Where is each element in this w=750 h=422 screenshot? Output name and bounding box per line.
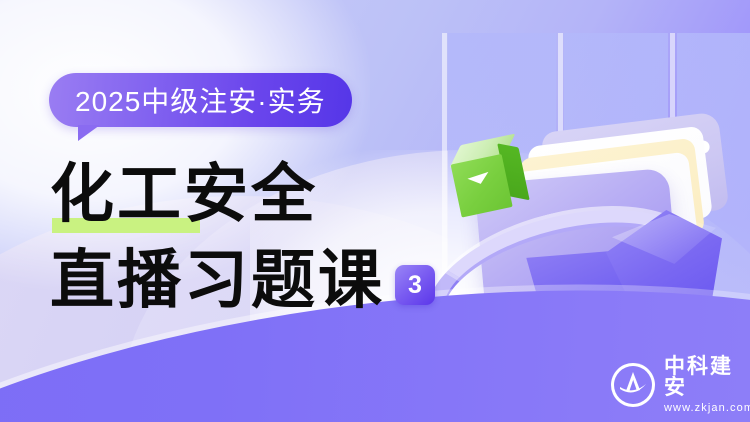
episode-number-badge: 3: [395, 265, 435, 305]
headline-line-2-row: 直播习题课 3: [50, 244, 470, 318]
course-banner: 2025中级注安·实务 化工安全 直播习题课 3 中科建安 www.zkjan.…: [0, 0, 750, 422]
course-category-label: 2025中级注安·实务: [49, 73, 352, 127]
headline-block: 化工安全 直播习题课 3: [50, 158, 470, 318]
pill-tail-pointer: [78, 125, 100, 141]
course-category-pill: 2025中级注安·实务: [49, 73, 352, 127]
brand-name: 中科建安: [664, 356, 750, 398]
headline-line-1: 化工安全: [50, 158, 470, 232]
brand-text-block: 中科建安 www.zkjan.com: [664, 356, 750, 414]
headline-line-2: 直播习题课: [50, 244, 385, 318]
brand-logo: 中科建安 www.zkjan.com: [611, 356, 750, 414]
headline-line-1-row: 化工安全: [50, 158, 470, 232]
brand-url: www.zkjan.com: [664, 403, 750, 414]
zkjan-logo-mark: [611, 363, 655, 407]
